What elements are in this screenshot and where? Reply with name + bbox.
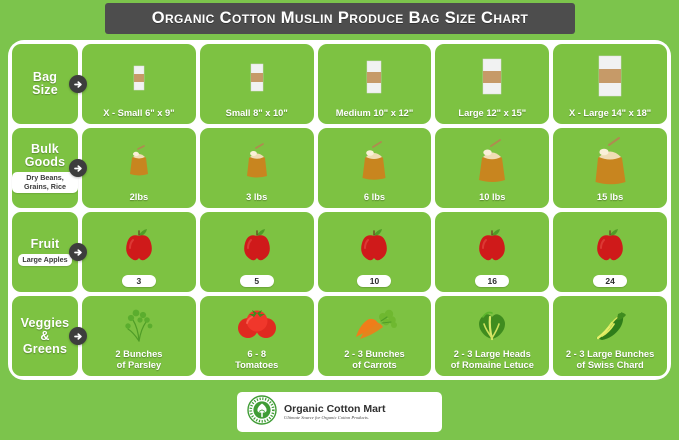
size-dimensions: 12" x 15"	[486, 108, 526, 118]
cell-bulk-2lbs: 2lbs	[82, 128, 196, 208]
size-name: X - Large	[569, 108, 609, 118]
brand-tagline: Ultimate Source for Organic Cotton Produ…	[284, 415, 386, 421]
apple-icon	[553, 212, 667, 275]
label-line-2: Size	[32, 83, 58, 97]
brand-footer: Organic Cotton Mart Ultimate Source for …	[237, 392, 442, 432]
row-veggies-greens: Veggies & Greens 2 Bunches of Parsley	[12, 296, 667, 376]
grain-sack-icon	[435, 128, 549, 192]
size-dimensions: 14" x 18"	[611, 108, 651, 118]
cell-fruit-10: 10	[318, 212, 432, 292]
row-bag-size: Bag Size X - Small 6" x 9"	[12, 44, 667, 124]
caption-veg-tomatoes: 6 - 8 Tomatoes	[233, 349, 280, 376]
label-line-1: Bulk	[31, 142, 59, 156]
tree-seal-logo-icon	[247, 395, 277, 430]
cell-bag-xsmall: X - Small 6" x 9"	[82, 44, 196, 124]
caption-veg-carrots: 2 - 3 Bunches of Carrots	[342, 349, 406, 376]
grain-sack-icon	[82, 128, 196, 192]
cell-bag-large: Large 12" x 15"	[435, 44, 549, 124]
caption-line-2: of Carrots	[352, 360, 396, 370]
cell-fruit-16: 16	[435, 212, 549, 292]
caption-line-1: 2 - 3 Large Heads	[454, 349, 531, 359]
arrow-right-icon	[69, 75, 87, 93]
cell-veg-swiss-chard: 2 - 3 Large Bunches of Swiss Chard	[553, 296, 667, 376]
caption-bulk-15lbs: 15 lbs	[595, 192, 625, 208]
cell-bulk-10lbs: 10 lbs	[435, 128, 549, 208]
row-label-text: Fruit	[31, 238, 60, 251]
size-name: Medium	[336, 108, 371, 118]
grain-sack-icon	[200, 128, 314, 192]
arrow-right-icon	[69, 327, 87, 345]
parsley-icon	[82, 296, 196, 349]
muslin-bag-icon	[318, 44, 432, 108]
swiss-chard-icon	[553, 296, 667, 349]
caption-line-2: Tomatoes	[235, 360, 278, 370]
cell-bag-medium: Medium 10" x 12"	[318, 44, 432, 124]
fruit-count-badge: 24	[593, 275, 627, 287]
size-name: X - Small	[103, 108, 142, 118]
chart-grid: Bag Size X - Small 6" x 9"	[12, 44, 667, 376]
caption-bag-xsmall: X - Small 6" x 9"	[101, 108, 176, 124]
apple-icon	[435, 212, 549, 275]
muslin-bag-icon	[82, 44, 196, 108]
caption-line-1: 6 - 8	[247, 349, 266, 359]
cell-veg-parsley: 2 Bunches of Parsley	[82, 296, 196, 376]
caption-bag-small: Small 8" x 10"	[224, 108, 290, 124]
cell-bulk-6lbs: 6 lbs	[318, 128, 432, 208]
grain-sack-icon	[318, 128, 432, 192]
romaine-icon	[435, 296, 549, 349]
fruit-count-badge: 16	[475, 275, 509, 287]
caption-line-2: of Swiss Chard	[577, 360, 644, 370]
caption-bulk-2lbs: 2lbs	[128, 192, 151, 208]
page-title: Organic Cotton Muslin Produce Bag Size C…	[152, 9, 529, 28]
label-line-2: &	[40, 329, 49, 343]
caption-line-2: of Romaine Letuce	[451, 360, 534, 370]
row-label-fruit: Fruit Large Apples	[12, 212, 78, 292]
arrow-right-icon	[69, 159, 87, 177]
caption-bag-large: Large 12" x 15"	[456, 108, 528, 124]
label-line-1: Veggies	[21, 316, 70, 330]
caption-line-1: 2 - 3 Large Bunches	[566, 349, 654, 359]
grain-sack-icon	[553, 128, 667, 192]
fruit-count-badge: 10	[357, 275, 391, 287]
fruit-count-badge: 3	[122, 275, 156, 287]
caption-veg-swiss-chard: 2 - 3 Large Bunches of Swiss Chard	[564, 349, 656, 376]
arrow-right-icon	[69, 243, 87, 261]
label-line-1: Bag	[33, 70, 57, 84]
apple-icon	[318, 212, 432, 275]
caption-bulk-10lbs: 10 lbs	[477, 192, 507, 208]
chart-frame: Bag Size X - Small 6" x 9"	[8, 40, 671, 380]
label-line-2: Goods	[25, 155, 66, 169]
size-dimensions: 8" x 10"	[253, 108, 288, 118]
row-label-text: Bag Size	[32, 71, 58, 97]
size-chart-infographic: Organic Cotton Muslin Produce Bag Size C…	[0, 0, 679, 440]
brand-name: Organic Cotton Mart	[284, 403, 386, 415]
caption-line-2: of Parsley	[117, 360, 161, 370]
row-label-bulk-goods: Bulk Goods Dry Beans, Grains, Rice	[12, 128, 78, 208]
size-dimensions: 10" x 12"	[373, 108, 413, 118]
tomatoes-icon	[200, 296, 314, 349]
size-name: Small	[226, 108, 251, 118]
caption-bag-medium: Medium 10" x 12"	[334, 108, 416, 124]
cell-fruit-3: 3	[82, 212, 196, 292]
row-fruit: Fruit Large Apples 3 5	[12, 212, 667, 292]
cell-veg-tomatoes: 6 - 8 Tomatoes	[200, 296, 314, 376]
muslin-bag-icon	[435, 44, 549, 108]
row-label-bag-size: Bag Size	[12, 44, 78, 124]
size-name: Large	[458, 108, 483, 118]
row-label-text: Veggies & Greens	[21, 317, 70, 356]
carrots-icon	[318, 296, 432, 349]
muslin-bag-icon	[553, 44, 667, 108]
row-label-text: Bulk Goods	[25, 143, 66, 169]
caption-veg-parsley: 2 Bunches of Parsley	[113, 349, 164, 376]
cell-bulk-3lbs: 3 lbs	[200, 128, 314, 208]
row-bulk-goods: Bulk Goods Dry Beans, Grains, Rice 2lbs	[12, 128, 667, 208]
cell-bulk-15lbs: 15 lbs	[553, 128, 667, 208]
row-badge-fruit: Large Apples	[18, 254, 71, 266]
label-line-3: Greens	[23, 342, 67, 356]
caption-bulk-6lbs: 6 lbs	[362, 192, 387, 208]
chart-title-bar: Organic Cotton Muslin Produce Bag Size C…	[105, 3, 575, 34]
row-label-veggies-greens: Veggies & Greens	[12, 296, 78, 376]
caption-bulk-3lbs: 3 lbs	[244, 192, 269, 208]
apple-icon	[200, 212, 314, 275]
size-dimensions: 6" x 9"	[145, 108, 175, 118]
apple-icon	[82, 212, 196, 275]
cell-fruit-24: 24	[553, 212, 667, 292]
muslin-bag-icon	[200, 44, 314, 108]
cell-veg-carrots: 2 - 3 Bunches of Carrots	[318, 296, 432, 376]
cell-fruit-5: 5	[200, 212, 314, 292]
fruit-count-badge: 5	[240, 275, 274, 287]
caption-line-1: 2 Bunches	[115, 349, 162, 359]
cell-bag-small: Small 8" x 10"	[200, 44, 314, 124]
row-badge-bulk-goods: Dry Beans, Grains, Rice	[12, 172, 78, 193]
cell-bag-xlarge: X - Large 14" x 18"	[553, 44, 667, 124]
cell-veg-romaine: 2 - 3 Large Heads of Romaine Letuce	[435, 296, 549, 376]
caption-line-1: 2 - 3 Bunches	[344, 349, 404, 359]
brand-text-block: Organic Cotton Mart Ultimate Source for …	[284, 403, 386, 421]
caption-veg-romaine: 2 - 3 Large Heads of Romaine Letuce	[449, 349, 536, 376]
caption-bag-xlarge: X - Large 14" x 18"	[567, 108, 653, 124]
